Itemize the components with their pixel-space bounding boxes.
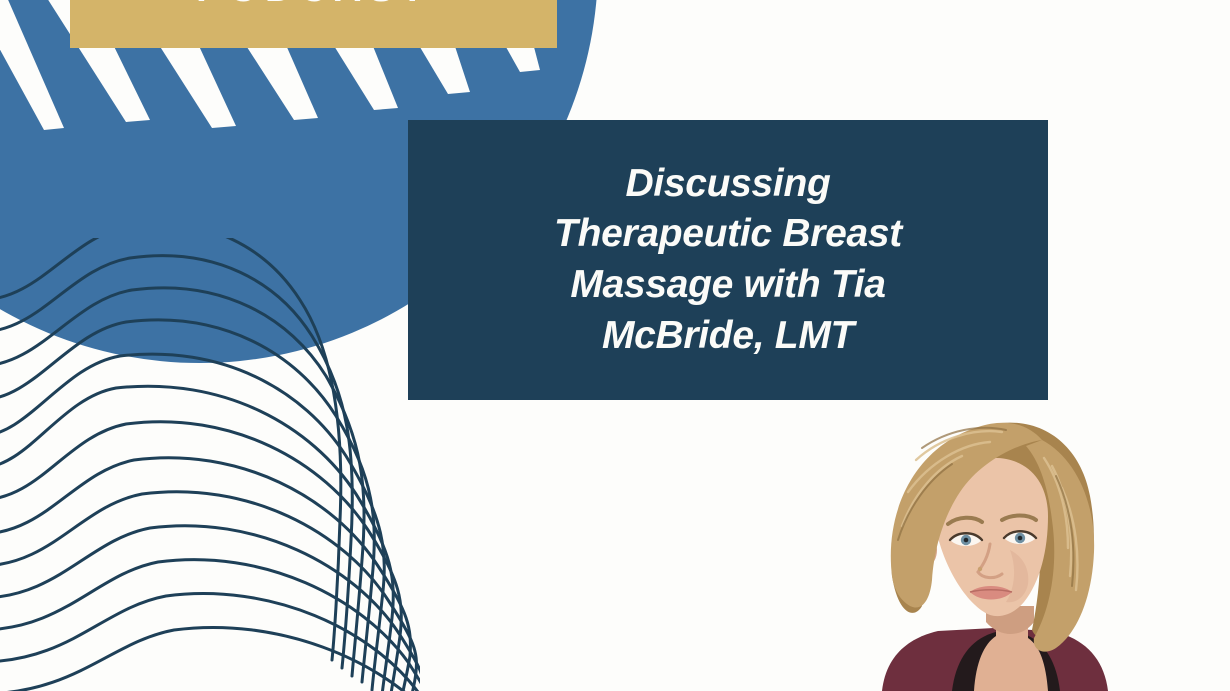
title-line-2: Therapeutic Breast xyxy=(554,212,902,255)
podcast-banner-label: PODCAST xyxy=(196,0,431,8)
podcast-banner: PODCAST xyxy=(70,0,557,48)
guest-portrait-image xyxy=(856,400,1186,691)
title-line-4: McBride, LMT xyxy=(602,314,854,357)
title-line-3: Massage with Tia xyxy=(570,263,885,306)
podcast-cover-graphic: PODCAST Discussing Therapeutic Breast Ma… xyxy=(0,0,1230,691)
portrait-nose-ring xyxy=(978,567,982,571)
episode-title-text: Discussing Therapeutic Breast Massage wi… xyxy=(554,159,902,362)
title-line-1: Discussing xyxy=(625,162,830,205)
guest-portrait xyxy=(856,400,1186,691)
episode-title-card: Discussing Therapeutic Breast Massage wi… xyxy=(408,120,1048,400)
